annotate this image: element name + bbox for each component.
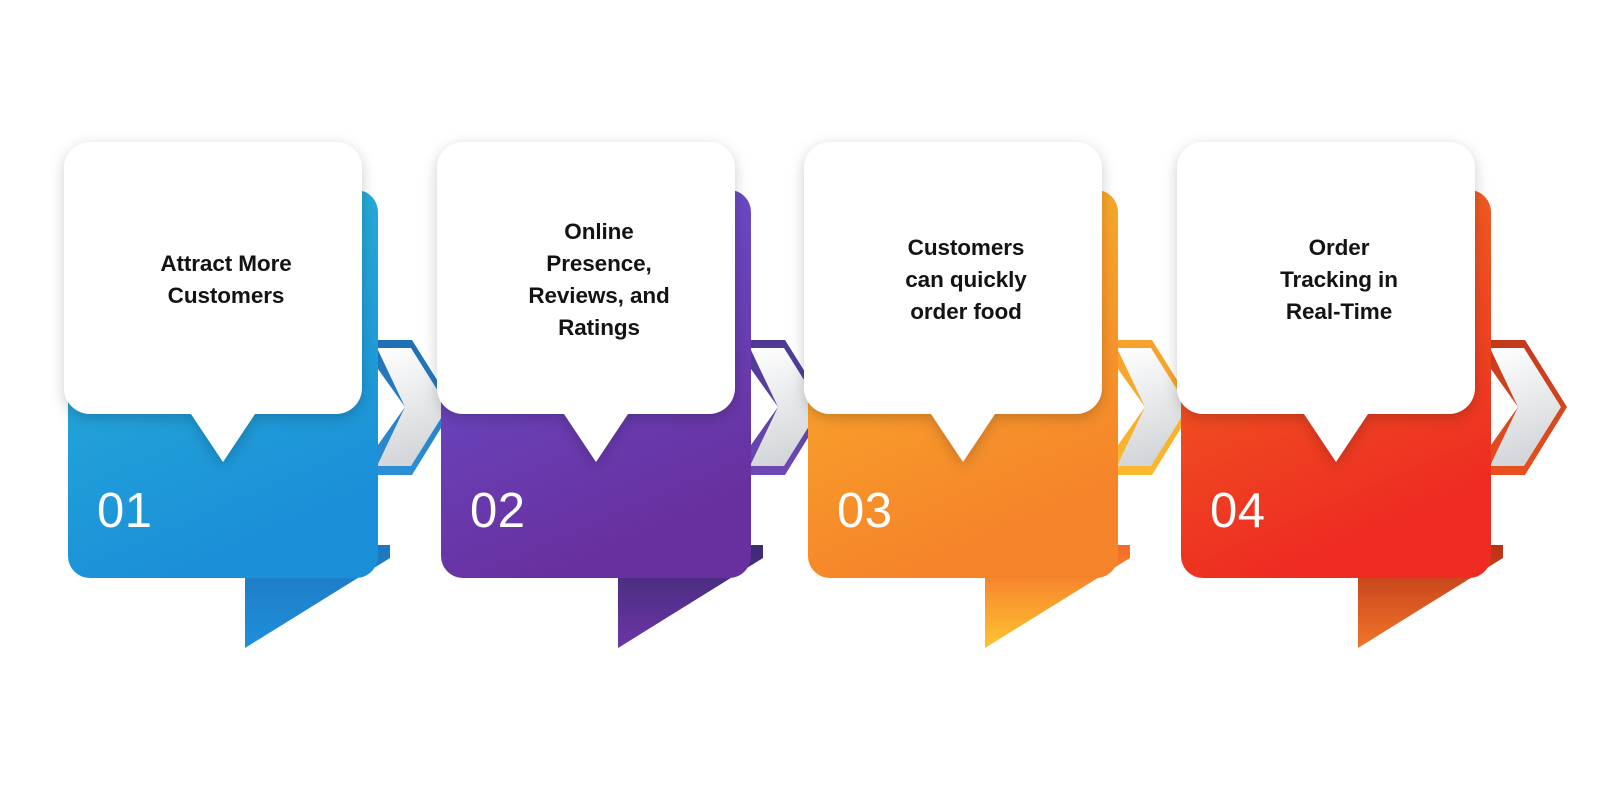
step-title: Attract More Customers <box>98 248 354 312</box>
step-card-04[interactable]: Order Tracking in Real-Time 04 <box>1173 0 1546 800</box>
step-number: 03 <box>837 483 893 539</box>
step-card-02[interactable]: Online Presence, Reviews, and Ratings 02 <box>433 0 806 800</box>
step-card-01[interactable]: Attract More Customers 01 <box>60 0 433 800</box>
step-title: Customers can quickly order food <box>838 232 1094 328</box>
step-number: 04 <box>1210 483 1266 539</box>
step-card-04-graphic <box>1173 0 1546 800</box>
infographic-canvas: Attract More Customers 01 <box>0 0 1600 800</box>
step-card-01-graphic <box>60 0 433 800</box>
step-number: 01 <box>97 483 153 539</box>
chevron-connector-icon <box>1486 340 1567 475</box>
step-title: Order Tracking in Real-Time <box>1211 232 1467 328</box>
step-title: Online Presence, Reviews, and Ratings <box>471 216 727 344</box>
step-card-03[interactable]: Customers can quickly order food 03 <box>800 0 1173 800</box>
step-card-02-graphic <box>433 0 806 800</box>
step-card-03-graphic <box>800 0 1173 800</box>
step-number: 02 <box>470 483 526 539</box>
